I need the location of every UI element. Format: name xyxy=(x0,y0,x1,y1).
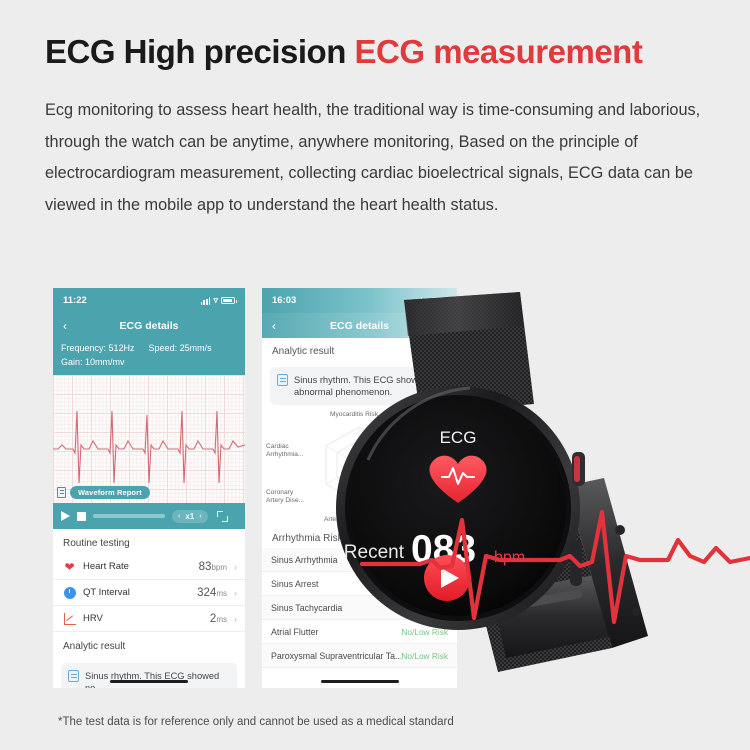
signal-bars-icon xyxy=(201,297,211,305)
clipboard-icon xyxy=(277,374,288,386)
nav-bar: ‹ ECG details xyxy=(262,313,457,338)
row-value: 2ms xyxy=(210,613,227,625)
heart-icon: ❤ xyxy=(63,560,76,573)
watch-band-lower xyxy=(455,478,648,672)
ecg-trace xyxy=(53,375,245,503)
page-title-plain: ECG High precision xyxy=(45,33,355,70)
wifi-icon: ▿ xyxy=(425,296,430,305)
waveform-report-control[interactable]: Waveform Report xyxy=(57,486,150,499)
play-icon[interactable] xyxy=(61,511,70,521)
wifi-icon: ▿ xyxy=(213,296,218,305)
row-value-number: 324 xyxy=(197,587,216,599)
back-chevron-icon[interactable]: ‹ xyxy=(272,319,276,333)
stop-icon[interactable] xyxy=(77,512,86,521)
speed-value: x1 xyxy=(185,512,194,521)
nav-title: ECG details xyxy=(262,320,457,332)
battery-icon xyxy=(221,297,235,304)
document-icon xyxy=(57,487,66,498)
chevron-right-icon: › xyxy=(234,614,237,624)
analytic-result-callout: Sinus rhythm. This ECG showed no xyxy=(61,663,237,688)
clipboard-icon xyxy=(68,670,79,682)
row-value: 83bpm xyxy=(199,561,227,573)
home-indicator xyxy=(321,680,399,684)
routine-testing-title: Routine testing xyxy=(53,529,245,554)
list-item[interactable]: QT Interval 324ms › xyxy=(53,580,245,606)
home-indicator xyxy=(110,680,188,684)
risk-radar-chart: Myocarditis Risk Cardiac Arrhythmia... C… xyxy=(262,405,457,525)
row-label: HRV xyxy=(83,613,203,624)
list-item[interactable]: HRV 2ms › xyxy=(53,606,245,632)
row-value-unit: ms xyxy=(216,589,227,598)
arrhythmia-risk-title: Arrhythmia Risk Assess xyxy=(262,525,457,548)
playback-controls[interactable]: ‹ x1 › xyxy=(53,503,245,529)
description-paragraph: Ecg monitoring to assess heart health, t… xyxy=(45,95,735,221)
chevron-left-icon[interactable]: ‹ xyxy=(178,513,180,520)
row-label: Atrial Flutter xyxy=(271,627,401,637)
ecg-parameters: Frequency: 512Hz Speed: 25mm/s Gain: 10m… xyxy=(53,338,245,375)
disclaimer-text: *The test data is for reference only and… xyxy=(58,716,454,728)
status-bar: 11:22 ▿ xyxy=(53,288,245,313)
list-item[interactable]: ❤ Heart Rate 83bpm › xyxy=(53,554,245,580)
fullscreen-icon[interactable] xyxy=(217,511,228,522)
table-row[interactable]: Atrial Flutter No/Low Risk xyxy=(262,620,457,644)
product-infographic: ECG High precision ECG measurement Ecg m… xyxy=(0,0,750,750)
signal-bars-icon xyxy=(413,297,423,305)
status-bar: 16:03 ▿ xyxy=(262,288,457,313)
battery-icon xyxy=(433,297,447,304)
progress-slider[interactable] xyxy=(93,514,165,518)
ecg-gain: Gain: 10mm/mv xyxy=(61,356,237,370)
ecg-waveform-chart: Waveform Report xyxy=(53,375,245,503)
ecg-frequency: Frequency: 512Hz xyxy=(61,342,135,356)
watch-bpm-unit: bpm xyxy=(494,549,525,566)
ecg-speed: Speed: 25mm/s xyxy=(149,342,212,356)
back-chevron-icon[interactable]: ‹ xyxy=(63,319,67,333)
hrv-icon xyxy=(63,612,76,625)
row-label: QT Interval xyxy=(83,587,190,598)
page-title: ECG High precision ECG measurement xyxy=(45,33,642,71)
table-row[interactable]: Sinus Tachycardia No/Low Risk xyxy=(262,596,457,620)
radar-plot xyxy=(262,405,457,525)
watch-side-button xyxy=(570,540,582,586)
analytic-result-title: Analytic result xyxy=(53,632,245,657)
table-row[interactable]: Paroxysmal Supraventricular Ta... No/Low… xyxy=(262,644,457,668)
row-label: Heart Rate xyxy=(83,561,192,572)
row-label: Sinus Arrest xyxy=(271,579,448,589)
row-value-unit: bpm xyxy=(211,563,227,572)
status-badge: No/Low Risk xyxy=(401,627,448,637)
row-label: Sinus Tachycardia xyxy=(271,603,401,613)
phone-screenshot-left: 11:22 ▿ ‹ ECG details Frequency: 512Hz S… xyxy=(53,288,245,688)
page-title-accent: ECG measurement xyxy=(355,33,643,70)
status-time: 16:03 xyxy=(272,295,296,306)
phone-screenshot-right: 16:03 ▿ ‹ ECG details Analytic result Si… xyxy=(262,288,457,688)
waveform-report-badge[interactable]: Waveform Report xyxy=(70,486,150,499)
clock-icon xyxy=(63,586,76,599)
speed-stepper[interactable]: ‹ x1 › xyxy=(172,510,208,523)
analytic-result-callout: Sinus rhythm. This ECG showed no abnorma… xyxy=(270,367,449,405)
radar-label: Arteriosclero... xyxy=(324,516,367,524)
table-row[interactable]: Sinus Arrest xyxy=(262,572,457,596)
table-row[interactable]: Sinus Arrhythmia xyxy=(262,548,457,572)
status-time: 11:22 xyxy=(63,295,87,306)
analytic-result-title: Analytic result xyxy=(262,338,457,361)
row-value-number: 83 xyxy=(199,561,212,573)
row-label: Sinus Arrhythmia xyxy=(271,555,448,565)
chevron-right-icon[interactable]: › xyxy=(199,513,201,520)
watch-crown-button xyxy=(572,452,585,486)
row-label: Paroxysmal Supraventricular Ta... xyxy=(271,651,401,661)
nav-title: ECG details xyxy=(53,320,245,332)
radar-label: Coronary Artery Dise... xyxy=(266,489,310,506)
analytic-result-text: Sinus rhythm. This ECG showed no abnorma… xyxy=(294,374,442,398)
radar-label: Cardiac Arrhythmia... xyxy=(266,443,308,460)
nav-bar: ‹ ECG details xyxy=(53,313,245,338)
chevron-right-icon: › xyxy=(234,562,237,572)
row-value: 324ms xyxy=(197,587,227,599)
chevron-right-icon: › xyxy=(234,588,237,598)
status-badge: No/Low Risk xyxy=(401,603,448,613)
status-badge: No/Low Risk xyxy=(401,651,448,661)
row-value-unit: ms xyxy=(216,615,227,624)
radar-label: Myocarditis Risk xyxy=(330,411,378,419)
